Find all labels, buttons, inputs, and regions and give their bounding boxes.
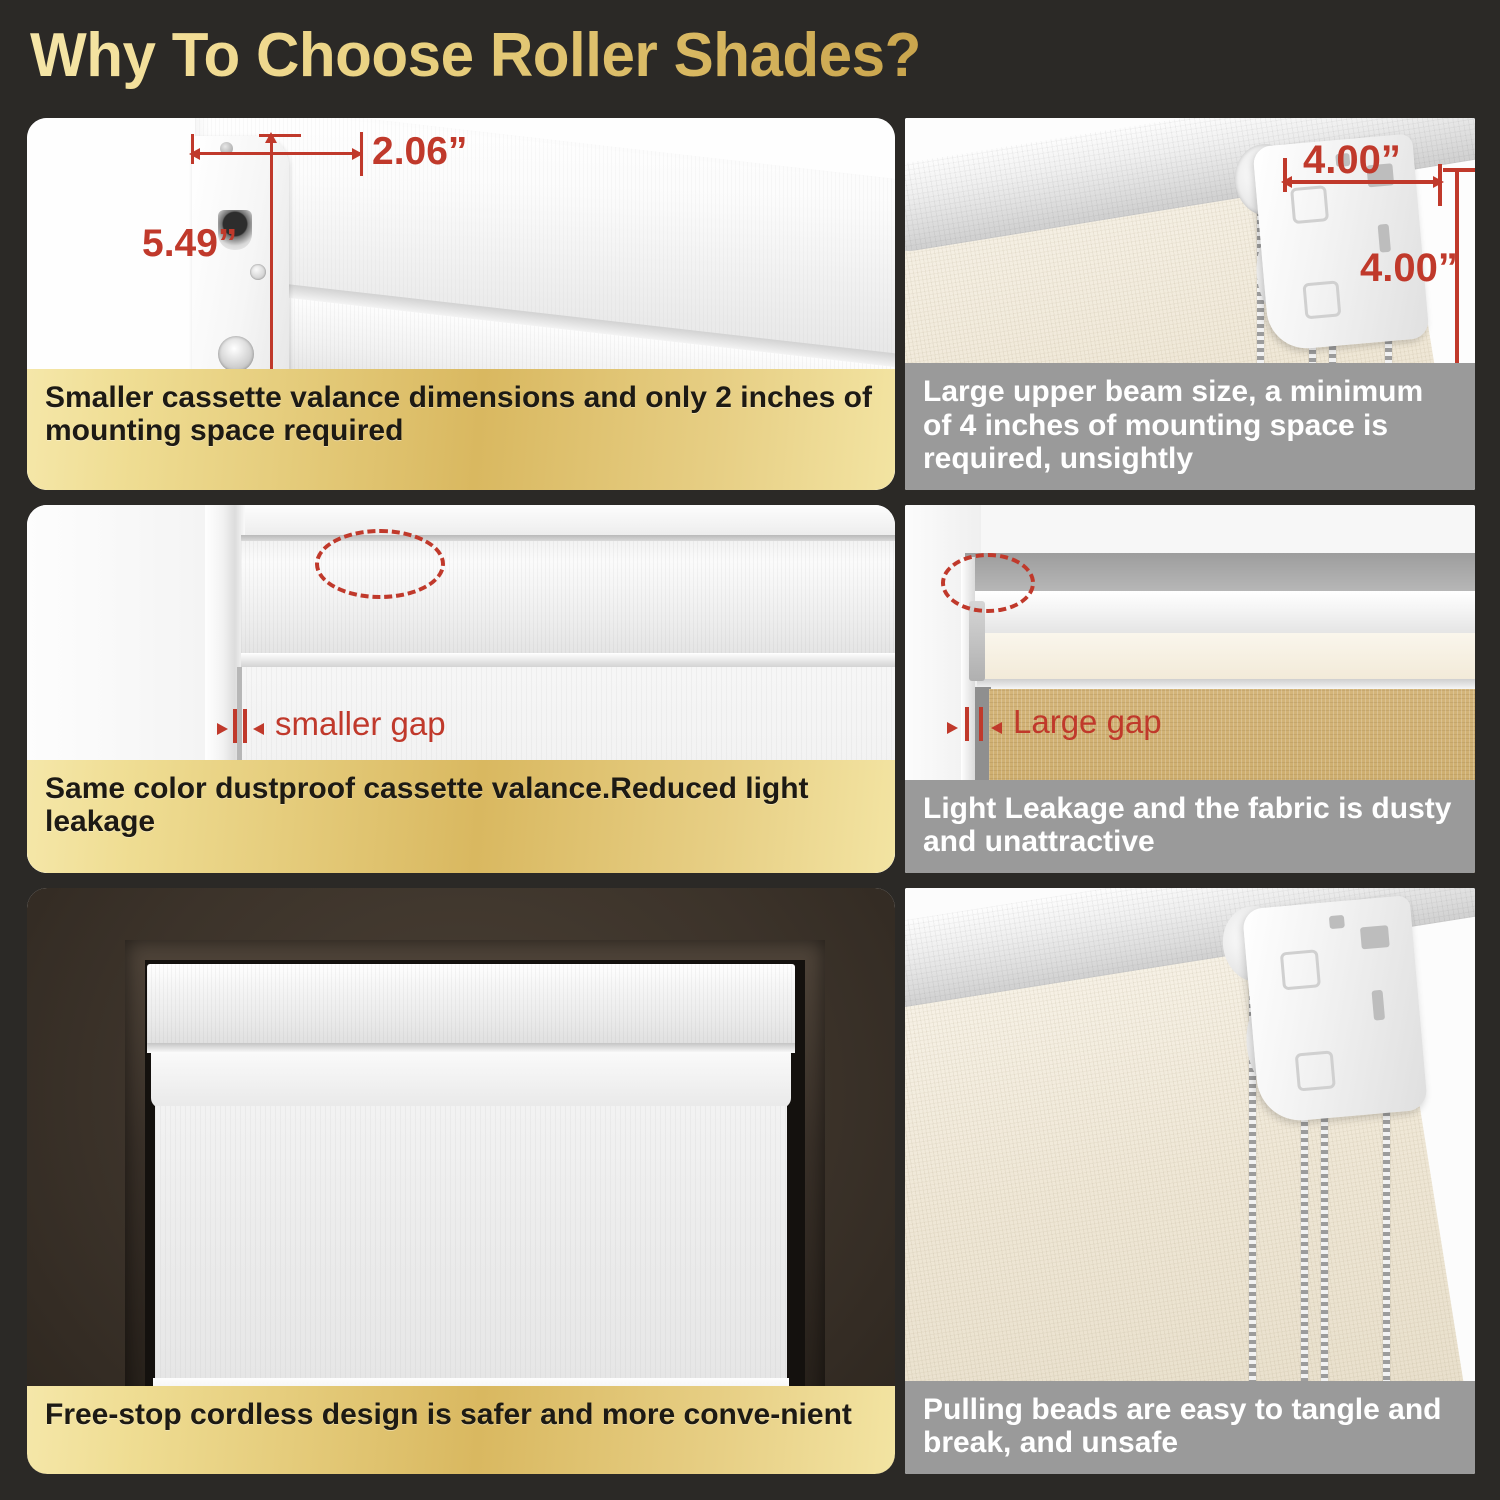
- panel-bad-upper-beam-size: 4.00” 4.00” Large upper beam size, a min…: [905, 118, 1475, 490]
- panel-bad-light-leakage: Large gap Light Leakage and the fabric i…: [905, 505, 1475, 873]
- caption-good-dustproof-valance: Same color dustproof cassette valance.Re…: [27, 760, 895, 873]
- highlight-ellipse-seam: [315, 529, 445, 599]
- dimension-value-height: 5.49”: [142, 222, 237, 266]
- panel-good-free-stop-cordless: Free-stop cordless design is safer and m…: [27, 888, 895, 1474]
- caption-bad-upper-beam-size: Large upper beam size, a minimum of 4 in…: [905, 363, 1475, 490]
- panel-good-cassette-dimensions: 2.06” 5.49” Smaller cassette valance dim…: [27, 118, 895, 490]
- caption-good-cassette-dimensions: Smaller cassette valance dimensions and …: [27, 369, 895, 490]
- title-bar: Why To Choose Roller Shades?: [0, 0, 1500, 112]
- panel-good-dustproof-valance: smaller gap Same color dustproof cassett…: [27, 505, 895, 873]
- caption-good-free-stop-cordless: Free-stop cordless design is safer and m…: [27, 1386, 895, 1474]
- roller-bracket: [1242, 895, 1428, 1124]
- gap-label-smaller: smaller gap: [275, 705, 446, 743]
- dimension-value-width: 2.06”: [372, 130, 467, 174]
- dimension-value-beam-width: 4.00”: [1303, 138, 1401, 183]
- page-title: Why To Choose Roller Shades?: [30, 20, 921, 91]
- gap-label-large: Large gap: [1013, 703, 1162, 741]
- caption-bad-light-leakage: Light Leakage and the fabric is dusty an…: [905, 780, 1475, 873]
- panel-bad-pulling-beads: Pulling beads are easy to tangle and bre…: [905, 888, 1475, 1474]
- caption-bad-pulling-beads: Pulling beads are easy to tangle and bre…: [905, 1381, 1475, 1474]
- highlight-ellipse-corner-gap: [941, 553, 1035, 613]
- dimension-value-beam-height: 4.00”: [1360, 246, 1458, 291]
